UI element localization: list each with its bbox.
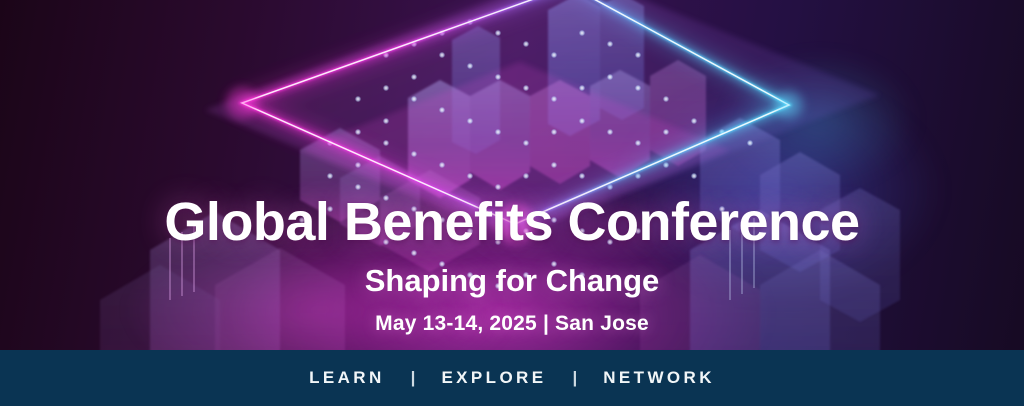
banner-dateline: May 13-14, 2025 | San Jose (375, 312, 649, 336)
banner-content: Global Benefits Conference Shaping for C… (0, 0, 1024, 350)
banner-subtitle: Shaping for Change (365, 264, 660, 298)
footer-item-network[interactable]: NETWORK (577, 368, 741, 388)
footer-nav: LEARN | EXPLORE | NETWORK (283, 368, 741, 388)
conference-banner: Global Benefits Conference Shaping for C… (0, 0, 1024, 406)
page-title: Global Benefits Conference (164, 194, 859, 250)
footer-item-explore[interactable]: EXPLORE (415, 368, 572, 388)
footer-bar: LEARN | EXPLORE | NETWORK (0, 350, 1024, 406)
footer-item-learn[interactable]: LEARN (283, 368, 411, 388)
